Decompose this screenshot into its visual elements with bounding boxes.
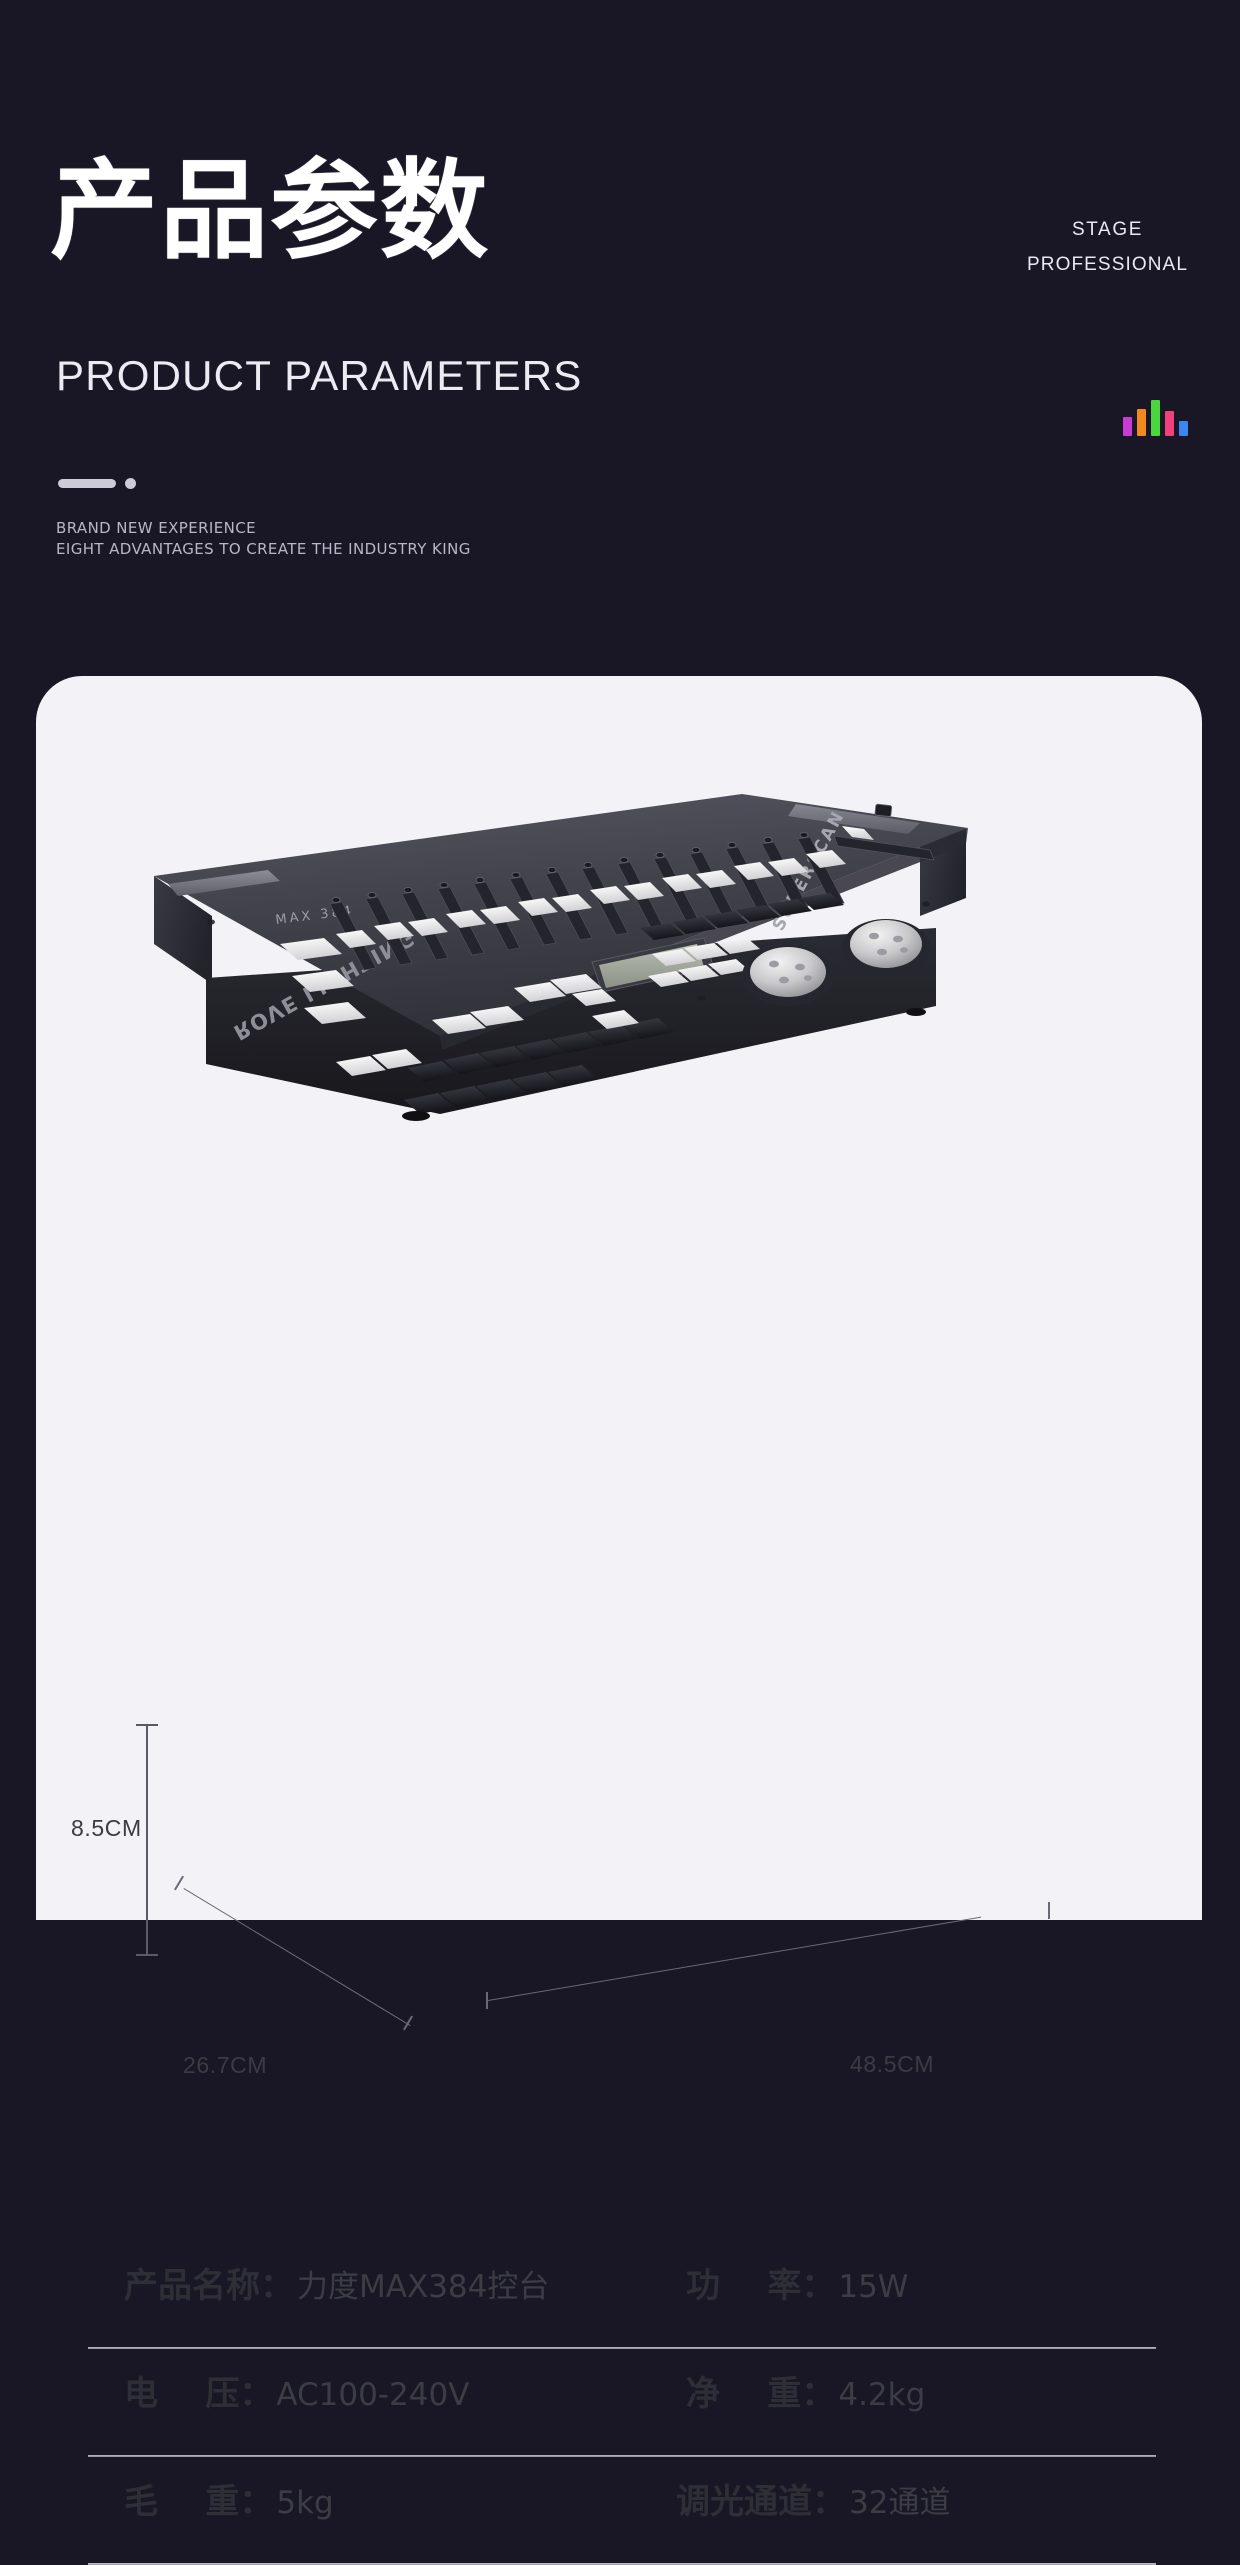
dimension-label-depth: 26.7CM	[183, 2052, 267, 2079]
power-switch	[875, 804, 892, 817]
brandmark-line-2: PROFESSIONAL	[1027, 247, 1188, 282]
product-card: MAX 384 ROVE LIGHTING SUPERSCAN	[36, 676, 1202, 1920]
equalizer-bar-1	[1123, 417, 1132, 436]
spec-cell-net-weight: 净 重： 4.2kg	[686, 2377, 925, 2411]
width-tick-start	[486, 1992, 488, 2009]
equalizer-bar-5	[1179, 421, 1188, 436]
height-tick-bottom	[136, 1954, 158, 1956]
spec-value: 32通道	[849, 2488, 950, 2519]
brandmark-line-1: STAGE	[1027, 212, 1188, 247]
page-title-chinese: 产品参数	[50, 158, 490, 266]
spec-value: 15W	[838, 2272, 908, 2303]
spec-cell-power: 功 率： 15W	[686, 2269, 908, 2303]
page-header: 产品参数 PRODUCT PARAMETERS BRAND NEW EXPERI…	[0, 0, 1240, 660]
equalizer-bar-2	[1137, 409, 1146, 436]
spec-row: 产品名称： 力度MAX384控台 功 率： 15W	[36, 2241, 1202, 2349]
spec-key: 功 率：	[686, 2269, 835, 2303]
spec-value: 5kg	[276, 2488, 333, 2519]
progress-pill-icon	[58, 479, 116, 488]
spec-table: 产品名称： 力度MAX384控台 功 率： 15W 电 压： AC100-240…	[36, 2241, 1202, 2565]
spec-value: AC100-240V	[276, 2380, 469, 2411]
dimension-label-width: 48.5CM	[850, 2051, 934, 2078]
spec-value: 力度MAX384控台	[297, 2272, 549, 2303]
tagline: BRAND NEW EXPERIENCE EIGHT ADVANTAGES TO…	[56, 518, 471, 561]
spec-cell-gross-weight: 毛 重： 5kg	[124, 2485, 334, 2519]
progress-indicator	[58, 478, 136, 489]
spec-key: 电 压：	[124, 2377, 273, 2411]
width-leader-line	[488, 1917, 981, 2001]
spec-row: 毛 重： 5kg 调光通道： 32通道	[36, 2457, 1202, 2565]
depth-leader-line	[183, 1888, 410, 2026]
dimension-label-height: 8.5CM	[71, 1815, 142, 1842]
spec-key: 调光通道：	[676, 2485, 846, 2519]
equalizer-bar-3	[1151, 400, 1160, 436]
tagline-line-1: BRAND NEW EXPERIENCE	[56, 518, 471, 539]
equalizer-bars-icon	[1123, 398, 1188, 436]
dmx-console-illustration: MAX 384 ROVE LIGHTING SUPERSCAN	[36, 676, 1202, 1416]
brandmark: STAGE PROFESSIONAL	[1027, 212, 1188, 282]
tagline-line-2: EIGHT ADVANTAGES TO CREATE THE INDUSTRY …	[56, 539, 471, 560]
progress-dot-icon	[125, 478, 136, 489]
height-leader-line	[146, 1724, 148, 1956]
spec-key: 毛 重：	[124, 2485, 273, 2519]
height-tick-top	[136, 1724, 158, 1726]
spec-key: 净 重：	[686, 2377, 835, 2411]
spec-key: 产品名称：	[124, 2269, 294, 2303]
spec-cell-product-name: 产品名称： 力度MAX384控台	[124, 2269, 549, 2303]
equalizer-bar-4	[1165, 411, 1174, 436]
spec-cell-voltage: 电 压： AC100-240V	[124, 2377, 469, 2411]
spec-row: 电 压： AC100-240V 净 重： 4.2kg	[36, 2349, 1202, 2457]
spec-value: 4.2kg	[838, 2380, 925, 2411]
spec-cell-dimmer-channels: 调光通道： 32通道	[676, 2485, 950, 2519]
width-tick-end	[1048, 1902, 1050, 1919]
product-photo: MAX 384 ROVE LIGHTING SUPERSCAN	[36, 676, 1202, 1416]
page-title-english: PRODUCT PARAMETERS	[56, 355, 582, 397]
